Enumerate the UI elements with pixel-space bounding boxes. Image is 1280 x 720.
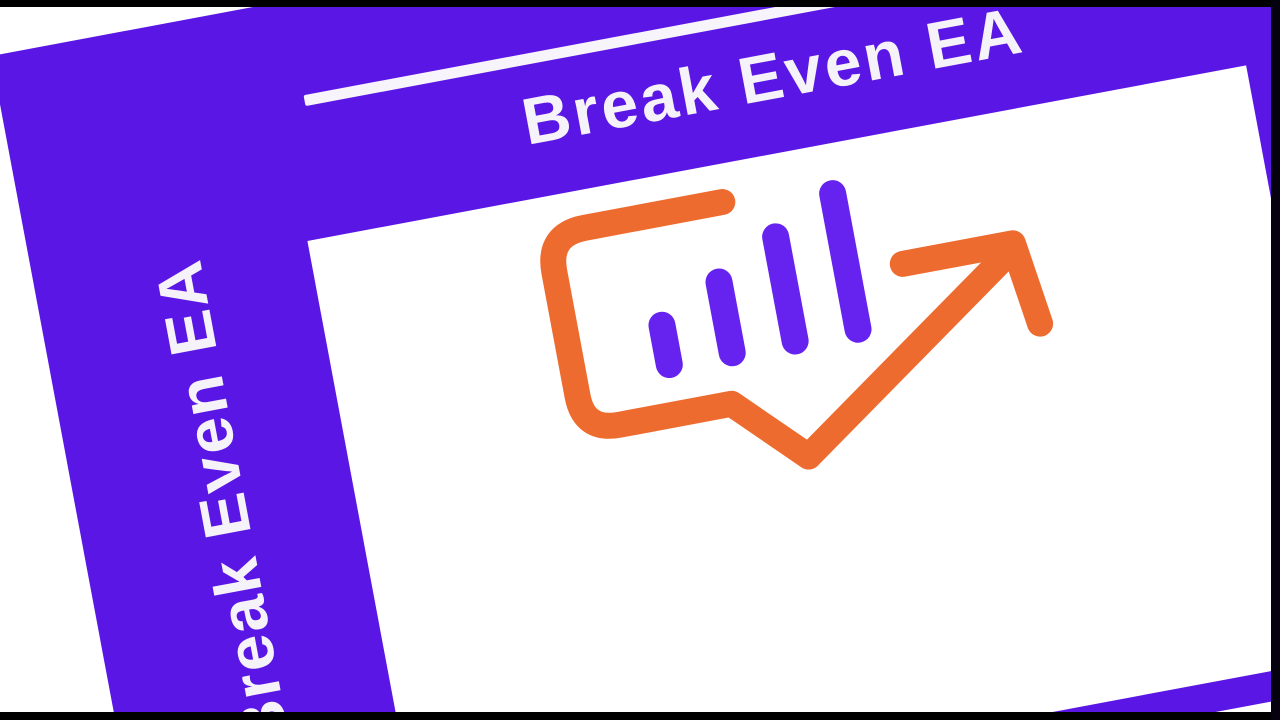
letterbox-bottom [0,712,1280,720]
logo-svg [522,125,1088,516]
brand-card: Break Even EA Break [0,0,1280,720]
thumbnail-canvas: Break Even EA Break [0,0,1280,720]
letterbox-right [1271,0,1280,720]
trend-arrow-shaft [778,250,1042,457]
logo-bar-1 [662,325,669,364]
break-even-ea-logo [522,125,1088,516]
logo-bar-4 [833,194,858,330]
logo-bar-3 [776,237,795,341]
logo-bar-2 [719,282,732,353]
letterbox-top [0,0,1280,7]
side-title: Break Even EA [131,184,314,720]
